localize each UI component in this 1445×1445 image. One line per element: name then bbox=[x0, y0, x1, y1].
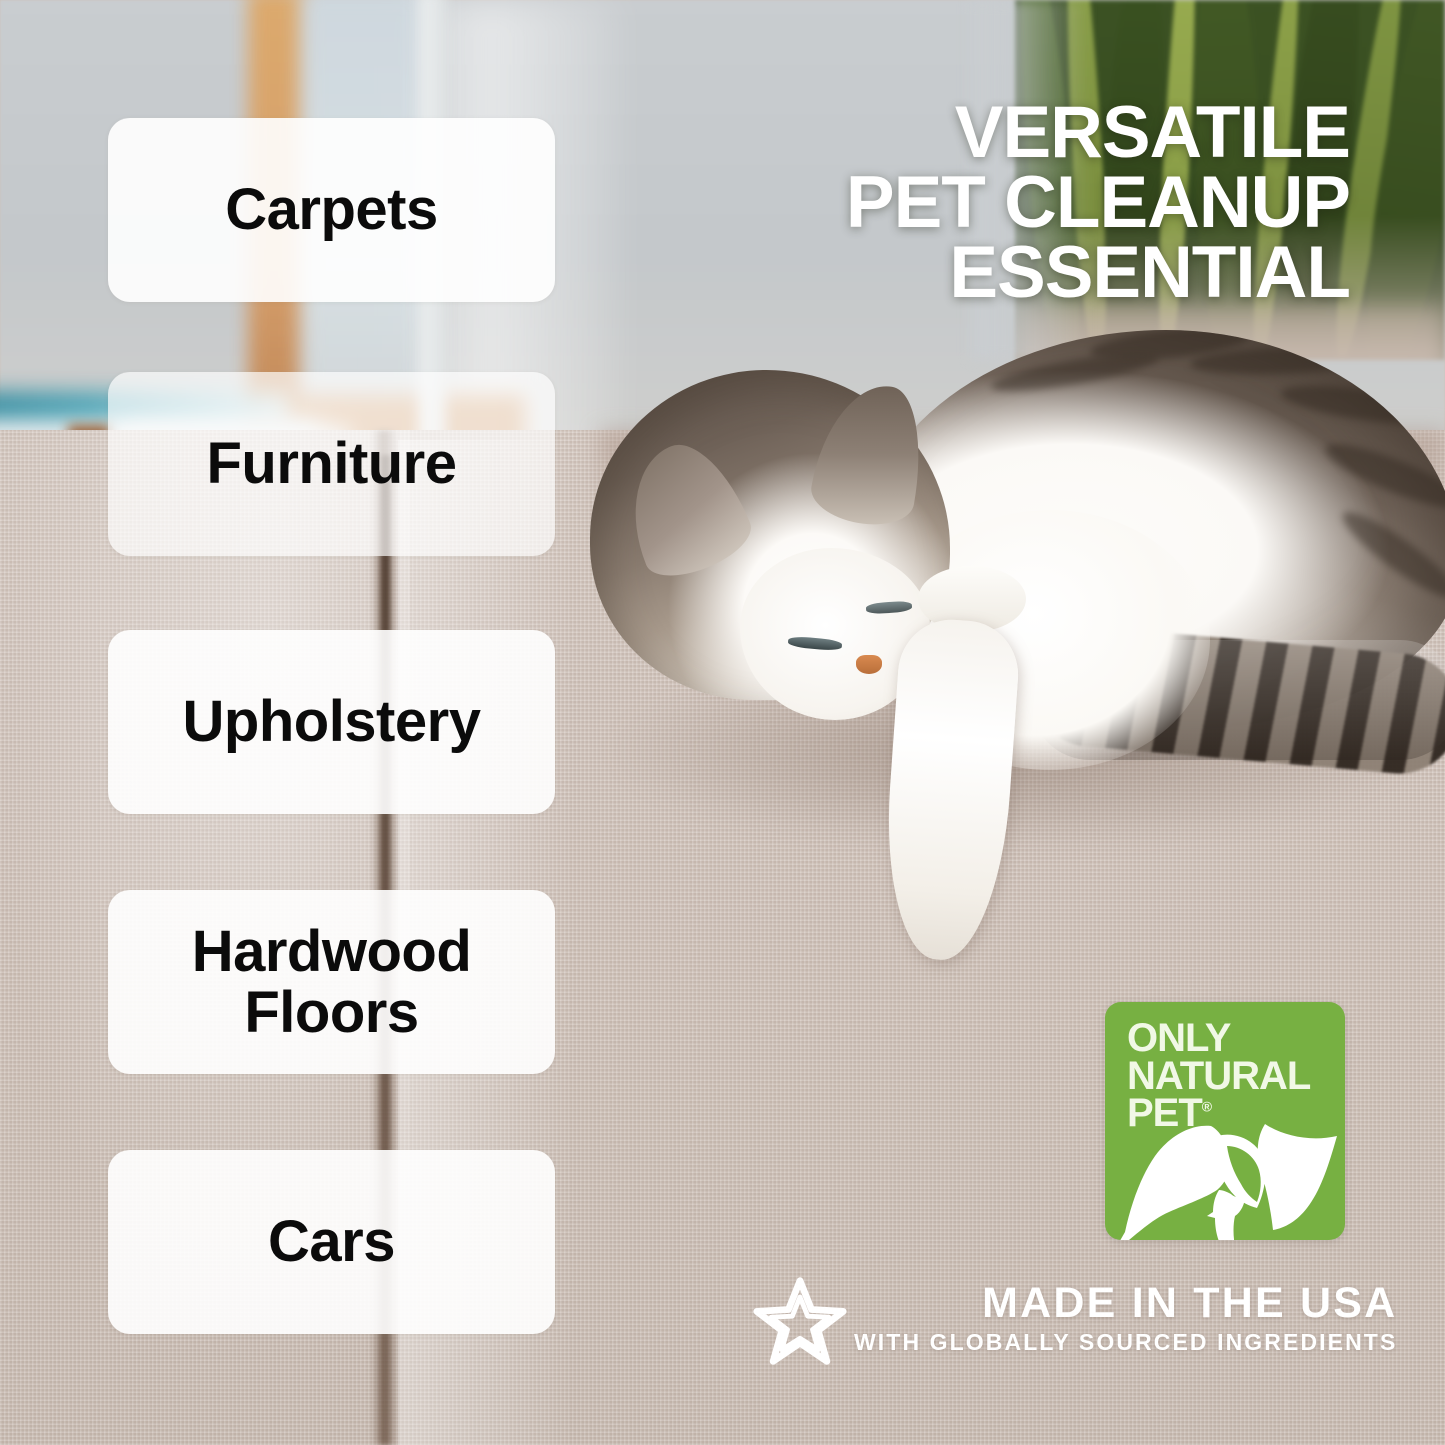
cat-ear-left bbox=[608, 430, 759, 589]
headline: VERSATILE PET CLEANUP ESSENTIAL bbox=[710, 98, 1350, 308]
headline-line-2: PET CLEANUP bbox=[710, 168, 1350, 238]
headline-line-3: ESSENTIAL bbox=[710, 238, 1350, 308]
cat-ear-right bbox=[807, 376, 934, 532]
surface-pill-cars: Cars bbox=[108, 1150, 555, 1334]
surface-pill-furniture: Furniture bbox=[108, 372, 555, 556]
leaf-dog-cat-icon bbox=[1115, 1120, 1345, 1240]
registered-mark: ® bbox=[1202, 1099, 1212, 1115]
made-in-usa-badge: MADE IN THE USA WITH GLOBALLY SOURCED IN… bbox=[752, 1268, 1352, 1373]
brand-logo-line-1: ONLY bbox=[1127, 1020, 1310, 1058]
brand-logo: ONLY NATURAL PET® bbox=[1105, 1002, 1345, 1240]
cat-head bbox=[590, 370, 950, 700]
surface-pill-hardwood-floors: Hardwood Floors bbox=[108, 890, 555, 1074]
surface-pill-label: Carpets bbox=[225, 179, 437, 240]
made-in-usa-line-1: MADE IN THE USA bbox=[854, 1282, 1397, 1325]
cat-photo-subject bbox=[560, 320, 1445, 1010]
made-in-usa-text: MADE IN THE USA WITH GLOBALLY SOURCED IN… bbox=[854, 1282, 1399, 1360]
cat-front-leg bbox=[878, 616, 1021, 964]
cat-nose bbox=[856, 655, 882, 674]
surface-pill-upholstery: Upholstery bbox=[108, 630, 555, 814]
star-outline-icon bbox=[752, 1273, 848, 1369]
surface-pill-label: Furniture bbox=[206, 433, 456, 494]
brand-logo-line-2: NATURAL bbox=[1127, 1058, 1310, 1096]
surface-pill-label: Hardwood Floors bbox=[192, 921, 472, 1044]
surface-pill-label: Upholstery bbox=[183, 691, 481, 752]
headline-line-1: VERSATILE bbox=[710, 98, 1350, 168]
product-marketing-image: VERSATILE PET CLEANUP ESSENTIAL Carpets … bbox=[0, 0, 1445, 1445]
brand-logo-text: ONLY NATURAL PET® bbox=[1127, 1020, 1310, 1133]
surface-pill-label: Cars bbox=[268, 1211, 395, 1272]
surface-pill-carpets: Carpets bbox=[108, 118, 555, 302]
made-in-usa-line-2: WITH GLOBALLY SOURCED INGREDIENTS bbox=[854, 1325, 1397, 1360]
